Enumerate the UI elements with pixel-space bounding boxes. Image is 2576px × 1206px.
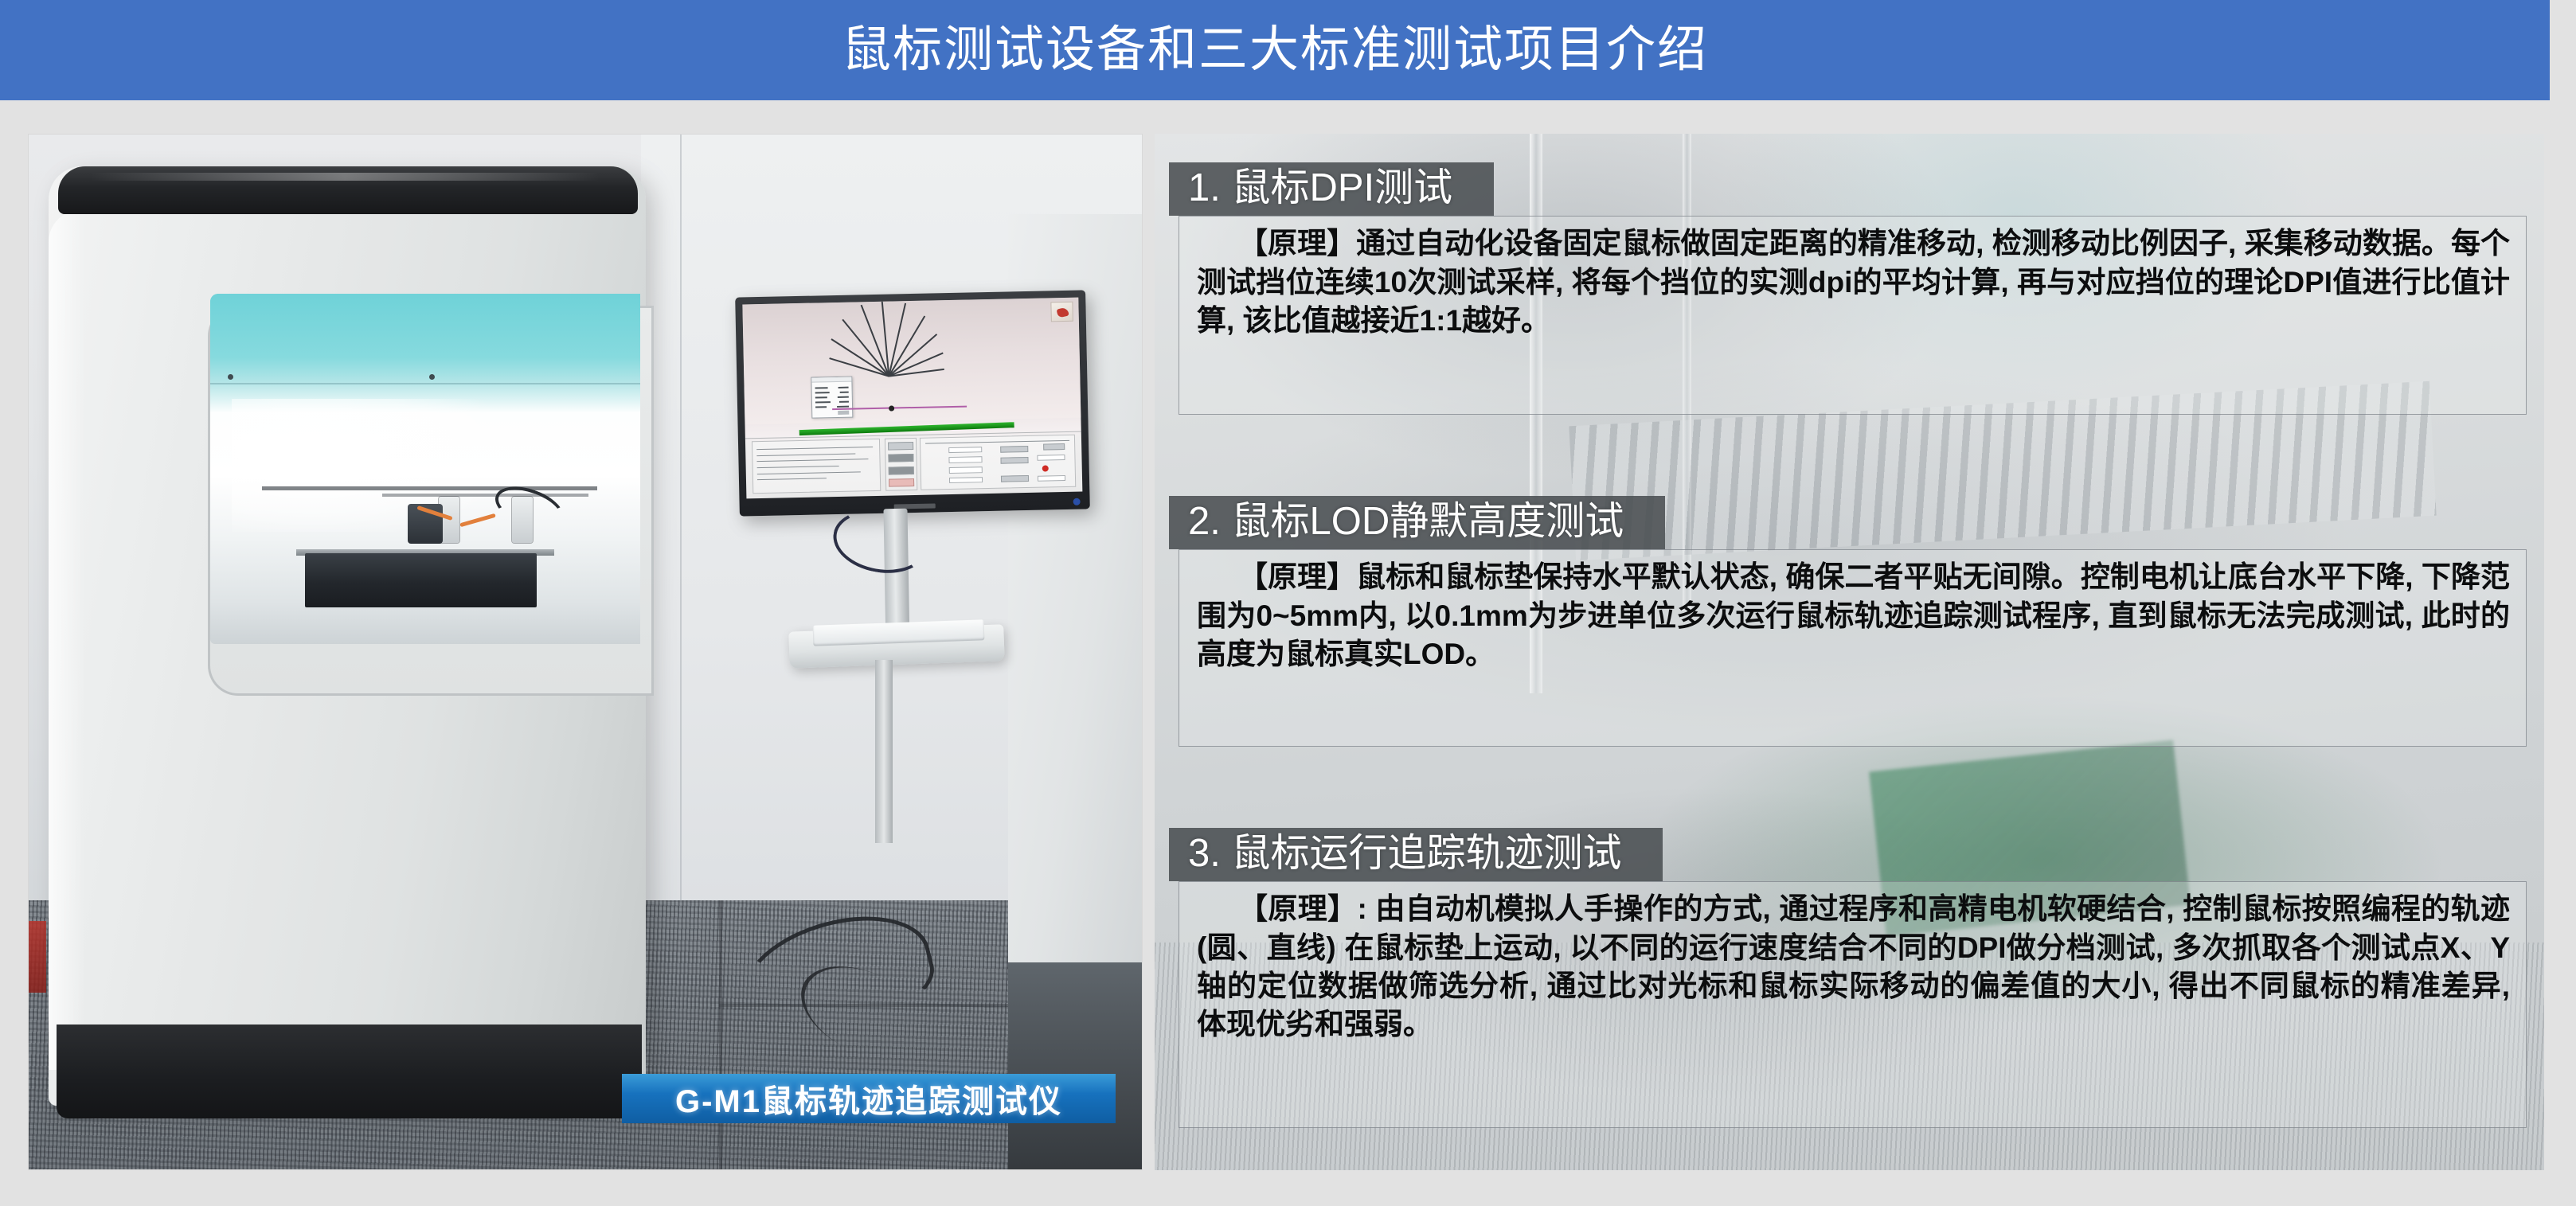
page-title-banner: 鼠标测试设备和三大标准测试项目介绍 xyxy=(0,0,2550,100)
popup-ok-button[interactable] xyxy=(838,410,850,414)
test-section-3-title: 3. 鼠标运行追踪轨迹测试 xyxy=(1188,832,1621,875)
carpet-seam xyxy=(719,900,722,1169)
popup-title-bar xyxy=(812,377,852,382)
interior-rail xyxy=(382,494,588,497)
popup-row xyxy=(839,400,849,402)
wall-seam xyxy=(680,135,682,942)
test-section-2: 2. 鼠标LOD静默高度测试 【原理】鼠标和鼠标垫保持水平默认状态, 确保二者平… xyxy=(1155,496,2544,747)
photo-caption-banner: G-M1鼠标轨迹追踪测试仪 xyxy=(622,1074,1116,1123)
test-section-3: 3. 鼠标运行追踪轨迹测试 【原理】: 由自动机模拟人手操作的方式, 通过程序和… xyxy=(1155,828,2544,1128)
test-section-2-header: 2. 鼠标LOD静默高度测试 xyxy=(1169,496,1665,549)
settings-button[interactable] xyxy=(1001,457,1029,464)
test-section-1: 1. 鼠标DPI测试 【原理】通过自动化设备固定鼠标做固定距离的精准移动, 检测… xyxy=(1155,162,2544,415)
monitor-screen xyxy=(742,298,1082,499)
glass-fastener xyxy=(228,374,233,380)
stop-button[interactable] xyxy=(889,478,914,487)
test-section-2-text: 【原理】鼠标和鼠标垫保持水平默认状态, 确保二者平贴无间隙。控制电机让底台水平下… xyxy=(1197,558,2510,673)
test-section-3-header: 3. 鼠标运行追踪轨迹测试 xyxy=(1169,828,1663,881)
viewing-window-glass xyxy=(210,294,640,644)
monitor-power-led xyxy=(1073,498,1081,505)
table-line xyxy=(757,466,839,468)
screen-upper-area xyxy=(742,298,1081,425)
results-table-panel xyxy=(752,439,881,494)
glass-teal-band xyxy=(210,294,640,384)
settings-field[interactable] xyxy=(1038,475,1065,482)
test-section-2-title: 2. 鼠标LOD静默高度测试 xyxy=(1188,500,1624,543)
background-cabinet-base xyxy=(1008,962,1143,1170)
test-section-3-text: 【原理】: 由自动机模拟人手操作的方式, 通过程序和高精电机软硬结合, 控制鼠标… xyxy=(1197,890,2510,1043)
table-line xyxy=(757,478,827,481)
red-object xyxy=(29,921,46,993)
cabinet-top-sheen xyxy=(90,173,600,181)
page-title: 鼠标测试设备和三大标准测试项目介绍 xyxy=(842,25,1708,75)
interior-shelf xyxy=(262,486,597,490)
logo-mark xyxy=(1057,307,1069,318)
control-button-panel xyxy=(885,438,917,491)
popup-row xyxy=(815,387,828,388)
table-line xyxy=(757,453,856,456)
popup-row xyxy=(837,405,849,407)
test-section-2-body: 【原理】鼠标和鼠标垫保持水平默认状态, 确保二者平贴无间隙。控制电机让底台水平下… xyxy=(1179,549,2527,747)
cabinet-edge-highlight xyxy=(49,210,85,1070)
title-banner-right-pad xyxy=(2550,0,2576,100)
equipment-photo: G-M1鼠标轨迹追踪测试仪 xyxy=(28,134,1143,1170)
status-indicator xyxy=(1042,466,1049,472)
popup-row xyxy=(815,406,827,408)
photo-caption-text: G-M1鼠标轨迹追踪测试仪 xyxy=(675,1075,1062,1122)
test-section-1-header: 1. 鼠标DPI测试 xyxy=(1169,162,1494,216)
measurement-popup-window xyxy=(811,376,854,418)
popup-row xyxy=(838,396,849,397)
cabinet-base xyxy=(57,1025,642,1118)
popup-row xyxy=(840,391,849,392)
popup-row xyxy=(815,396,827,398)
settings-field[interactable] xyxy=(949,477,983,484)
control-button[interactable] xyxy=(889,466,914,474)
settings-button[interactable] xyxy=(1000,445,1028,452)
settings-field[interactable] xyxy=(949,466,983,474)
cabinet-top-trim xyxy=(58,166,638,214)
settings-button[interactable] xyxy=(1043,443,1065,450)
settings-panel xyxy=(920,435,1075,490)
test-section-1-text: 【原理】通过自动化设备固定鼠标做固定距离的精准移动, 检测移动比例因子, 采集移… xyxy=(1197,224,2510,339)
popup-row xyxy=(815,392,830,393)
table-line xyxy=(756,447,873,450)
table-line xyxy=(757,459,868,462)
popup-row xyxy=(838,386,849,388)
monitor xyxy=(735,290,1090,516)
settings-field[interactable] xyxy=(948,447,982,454)
test-platform xyxy=(305,553,537,607)
settings-button[interactable] xyxy=(1001,475,1029,482)
tray-support-post xyxy=(875,660,893,843)
control-button[interactable] xyxy=(888,454,913,462)
software-logo-icon xyxy=(1050,302,1073,322)
test-section-1-body: 【原理】通过自动化设备固定鼠标做固定距离的精准移动, 检测移动比例因子, 采集移… xyxy=(1179,216,2527,415)
settings-field[interactable] xyxy=(1038,455,1065,461)
popup-row xyxy=(815,401,831,403)
trajectory-fan-plot xyxy=(889,375,889,376)
glass-teal-edge xyxy=(210,383,640,384)
test-section-1-title: 1. 鼠标DPI测试 xyxy=(1188,166,1452,209)
test-items-panel: 1. 鼠标DPI测试 【原理】通过自动化设备固定鼠标做固定距离的精准移动, 检测… xyxy=(1155,134,2544,1170)
test-section-3-body: 【原理】: 由自动机模拟人手操作的方式, 通过程序和高精电机软硬结合, 控制鼠标… xyxy=(1179,881,2527,1128)
settings-field[interactable] xyxy=(948,456,982,463)
control-button[interactable] xyxy=(888,442,913,451)
table-line xyxy=(757,471,861,474)
